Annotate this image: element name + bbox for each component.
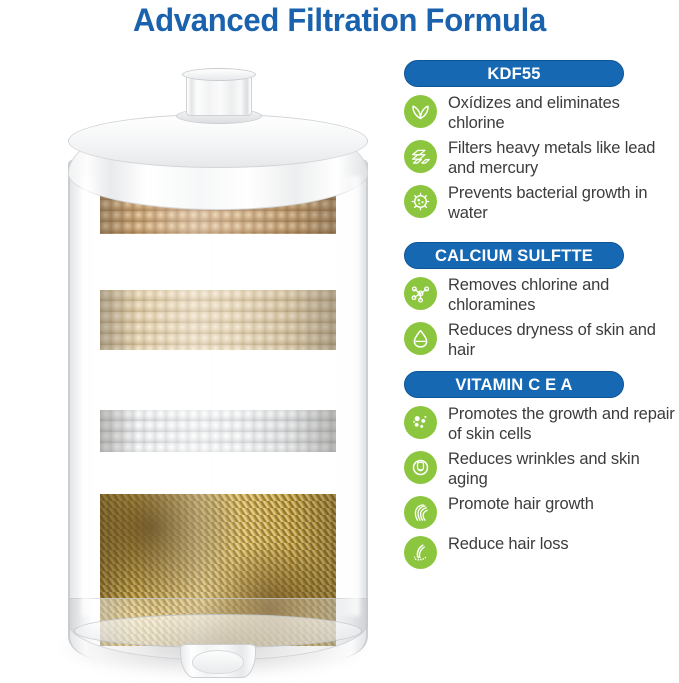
outlet-port-inner	[192, 650, 244, 674]
product-image	[36, 58, 400, 678]
feature-text: Prevents bacterial growth in water	[448, 184, 679, 223]
feature-row: Filters heavy metals like lead and mercu…	[404, 139, 679, 178]
feature-rows-vitamin-cea: Promotes the growth and repair of skin c…	[404, 405, 679, 569]
inlet-port-lip	[182, 68, 256, 81]
feature-group-calcium-sulftte: CALCIUM SULFTTE Re	[404, 242, 679, 360]
feature-row: Removes chlorine and chloramines	[404, 276, 679, 315]
badge-vitamin-cea: VITAMIN C E A	[404, 371, 624, 398]
feature-rows-kdf55: Oxídizes and eliminates chlorine Filters…	[404, 94, 679, 223]
feature-group-kdf55: KDF55 Oxídizes and eliminates chlorine	[404, 60, 679, 223]
bacteria-icon	[404, 185, 437, 218]
leaf-icon	[404, 95, 437, 128]
feature-row: Reduces wrinkles and skin aging	[404, 450, 679, 489]
feature-text: Reduce hair loss	[448, 535, 569, 555]
feature-rows-calcium-sulftte: Removes chlorine and chloramines Reduces…	[404, 276, 679, 360]
feature-row: Reduce hair loss	[404, 535, 679, 569]
badge-kdf55: KDF55	[404, 60, 624, 87]
metal-bars-icon	[404, 140, 437, 173]
page-title: Advanced Filtration Formula	[10, 2, 669, 39]
feature-text: Promote hair growth	[448, 495, 594, 515]
face-wrinkle-icon	[404, 451, 437, 484]
badge-calcium-sulftte: CALCIUM SULFTTE	[404, 242, 624, 269]
glass-highlight-left	[82, 176, 98, 616]
hair-follicle-icon	[404, 536, 437, 569]
feature-text: Oxídizes and eliminates chlorine	[448, 94, 679, 133]
media-layer-cream-beads	[100, 290, 336, 350]
glass-highlight-right	[338, 176, 360, 616]
media-layer-white-beads	[100, 410, 336, 452]
feature-row: Oxídizes and eliminates chlorine	[404, 94, 679, 133]
water-drop-icon	[404, 322, 437, 355]
filter-base-ring	[74, 614, 362, 648]
feature-row: Promote hair growth	[404, 495, 679, 529]
feature-row: Reduces dryness of skin and hair	[404, 321, 679, 360]
feature-text: Removes chlorine and chloramines	[448, 276, 679, 315]
group-spacer	[404, 229, 679, 242]
feature-row: Prevents bacterial growth in water	[404, 184, 679, 223]
feature-list: KDF55 Oxídizes and eliminates chlorine	[404, 60, 679, 575]
feature-text: Promotes the growth and repair of skin c…	[448, 405, 679, 444]
feature-text: Filters heavy metals like lead and mercu…	[448, 139, 679, 178]
filter-media-stack	[100, 178, 336, 646]
feature-text: Reduces dryness of skin and hair	[448, 321, 679, 360]
skin-cells-icon	[404, 406, 437, 439]
molecule-icon	[404, 277, 437, 310]
feature-row: Promotes the growth and repair of skin c…	[404, 405, 679, 444]
feature-group-vitamin-cea: VITAMIN C E A Promotes the growth and re…	[404, 371, 679, 569]
hair-strands-icon	[404, 496, 437, 529]
feature-text: Reduces wrinkles and skin aging	[448, 450, 679, 489]
